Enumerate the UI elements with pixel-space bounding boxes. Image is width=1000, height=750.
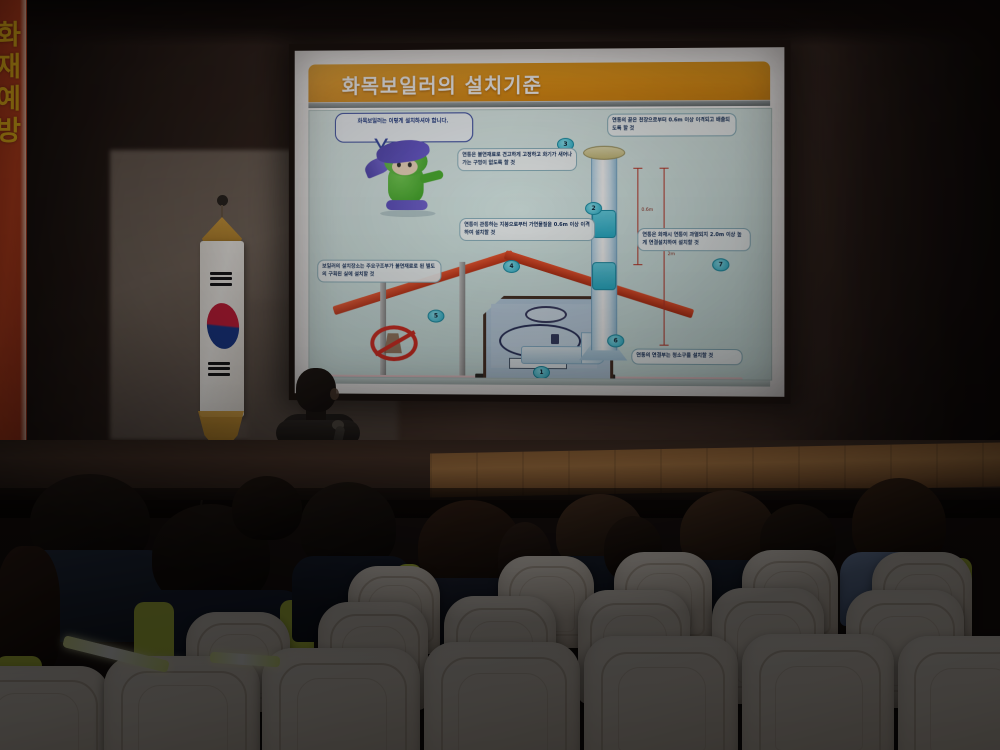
seat-c3 bbox=[424, 642, 580, 750]
callout-badge-1: 1 bbox=[533, 366, 550, 379]
callout-badge-4: 4 bbox=[503, 260, 520, 273]
title-underline bbox=[308, 101, 770, 108]
fire-safety-mascot-icon bbox=[370, 136, 441, 220]
presentation-slide: 화목보일러의 설치기준 화목보일러는 이렇게 설치하셔야 합니다. bbox=[295, 47, 785, 397]
dimension-cap-b2 bbox=[660, 345, 669, 346]
banner-edge-highlight bbox=[20, 0, 26, 452]
support-post-2 bbox=[459, 262, 465, 378]
note-top-right: 연통의 끝은 천장으로부터 0.6m 이상 이격되고 배출되도록 할 것 bbox=[607, 113, 736, 137]
note-left-text: 보일러의 설치장소는 주요구조부가 불연재료로 된 별도의 구획된 실에 설치할… bbox=[322, 264, 436, 279]
chimney-cap bbox=[583, 146, 625, 160]
chimney-collar-roof bbox=[592, 262, 616, 290]
dimension-line-0-6m bbox=[637, 168, 638, 264]
dimension-line-2m bbox=[664, 168, 665, 345]
note-left: 보일러의 설치장소는 주요구조부가 불연재료로 된 별도의 구획된 실에 설치할… bbox=[317, 260, 441, 283]
seat-c1 bbox=[104, 656, 260, 750]
callout-badge-5: 5 bbox=[428, 310, 445, 323]
right-wall-shadow bbox=[770, 0, 1000, 470]
projection-screen: 화목보일러의 설치기준 화목보일러는 이렇게 설치하셔야 합니다. bbox=[295, 47, 785, 397]
mascot-legs bbox=[386, 200, 428, 210]
note-center: 연통이 관통하는 지붕으로부터 가연물질을 0.6m 이상 이격하여 설치할 것 bbox=[459, 218, 595, 241]
mascot-eye-right bbox=[408, 162, 412, 167]
audience-seating-area bbox=[0, 470, 1000, 750]
note-mid-right-text: 연통은 화재시 연통이 과열되지 2.0m 이상 높게 연결설치하여 설치할 것 bbox=[642, 232, 745, 247]
dimension-label-0-6m: 0.6m bbox=[641, 208, 653, 213]
slide-title: 화목보일러의 설치기준 bbox=[342, 68, 742, 99]
seat-c4 bbox=[584, 636, 738, 750]
seat-c2 bbox=[262, 648, 420, 750]
seat-c6 bbox=[898, 636, 1000, 750]
presenter-ear bbox=[330, 388, 339, 400]
dimension-cap-a1 bbox=[633, 168, 642, 169]
callout-badge-7: 7 bbox=[712, 258, 729, 271]
trigram-bottom bbox=[208, 359, 230, 378]
note-upper-mid-text: 연통은 불연재료로 견고하게 고정하고 화기가 새어나가는 구멍이 없도록 할 … bbox=[462, 152, 572, 167]
attendee-12-hair bbox=[232, 476, 302, 540]
speech-bubble-text: 화목보일러는 이렇게 설치하셔야 합니다. bbox=[340, 117, 466, 126]
note-upper-mid: 연통은 불연재료로 견고하게 고정하고 화기가 새어나가는 구멍이 없도록 할 … bbox=[457, 148, 577, 171]
mascot-arm-right bbox=[419, 169, 444, 184]
note-low-right-text: 연통의 연결부는 청소구를 설치할 것 bbox=[636, 353, 737, 361]
note-top-right-text: 연통의 끝은 천장으로부터 0.6m 이상 이격되고 배출되도록 할 것 bbox=[612, 117, 731, 133]
note-low-right: 연통의 연결부는 청소구를 설치할 것 bbox=[631, 349, 742, 365]
projection-screen-frame: 화목보일러의 설치기준 화목보일러는 이렇게 설치하셔야 합니다. bbox=[289, 40, 791, 404]
trigram-top bbox=[210, 269, 232, 288]
mascot-shadow bbox=[380, 210, 435, 217]
dimension-cap-a2 bbox=[633, 264, 642, 265]
photo-scene: 화재예방 화목보일러의 설치기준 화목보일러는 이렇게 설치하셔야 합니다. bbox=[0, 0, 1000, 750]
korean-flag-stand bbox=[186, 195, 258, 475]
boiler-handle-icon bbox=[551, 334, 559, 344]
no-combustibles-icon bbox=[370, 325, 417, 361]
seat-c0 bbox=[0, 666, 110, 750]
dimension-label-2m: 2m bbox=[668, 252, 675, 257]
seat-c5 bbox=[742, 634, 894, 750]
callout-badge-6: 6 bbox=[607, 334, 624, 347]
slide-content-area: 화목보일러는 이렇게 설치하셔야 합니다. bbox=[308, 108, 772, 381]
dimension-cap-b1 bbox=[660, 168, 669, 169]
callout-badge-2: 2 bbox=[585, 202, 602, 215]
note-center-text: 연통이 관통하는 지붕으로부터 가연물질을 0.6m 이상 이격하여 설치할 것 bbox=[464, 222, 590, 237]
note-mid-right: 연통은 화재시 연통이 과열되지 2.0m 이상 높게 연결설치하여 설치할 것 bbox=[637, 228, 750, 251]
chimney-vertical-pipe bbox=[591, 154, 617, 351]
boiler-top-port bbox=[525, 306, 567, 323]
